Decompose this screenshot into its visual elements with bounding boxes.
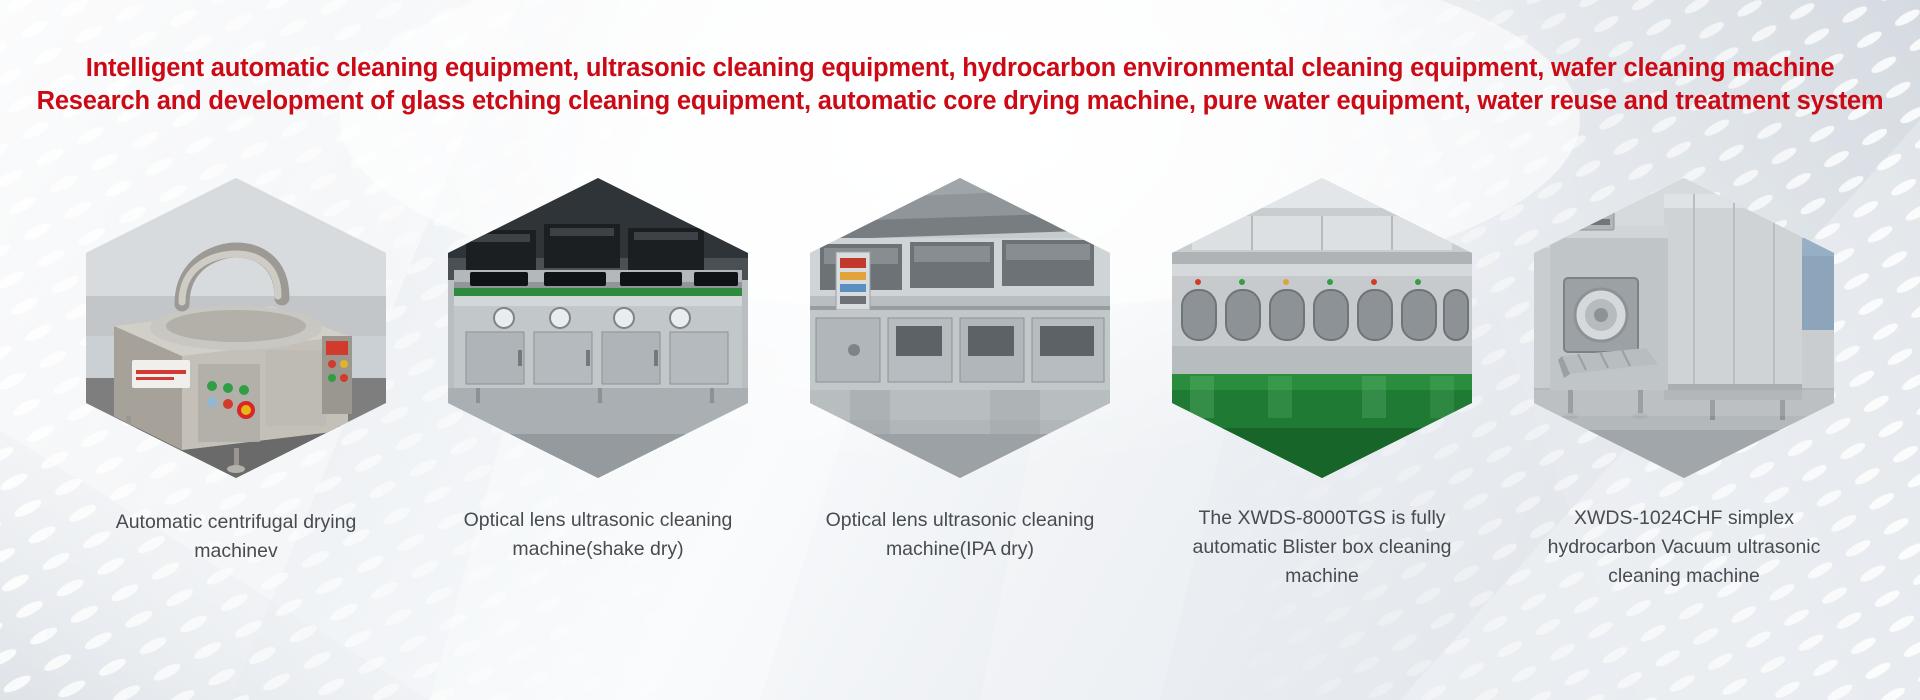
hex-frame-4	[1534, 178, 1834, 478]
product-card-0[interactable]: Automatic centrifugal drying machinev	[55, 178, 417, 566]
headline-line-1: Intelligent automatic cleaning equipment…	[0, 52, 1920, 85]
optical-lens-shake-dry-illustration	[448, 178, 748, 478]
product-image-1[interactable]	[448, 178, 748, 478]
banner-root: Intelligent automatic cleaning equipment…	[0, 0, 1920, 700]
headline-line-2: Research and development of glass etchin…	[0, 85, 1920, 118]
xwds-8000tgs-illustration	[1172, 178, 1472, 478]
product-image-4[interactable]	[1534, 178, 1834, 478]
product-caption-2: Optical lens ultrasonic cleaning machine…	[810, 506, 1110, 564]
product-card-1[interactable]: Optical lens ultrasonic cleaning machine…	[417, 178, 779, 564]
product-card-row: Automatic centrifugal drying machinev	[0, 178, 1920, 658]
xwds-1024chf-illustration	[1534, 178, 1834, 478]
optical-lens-ipa-dry-illustration	[810, 178, 1110, 478]
product-card-2[interactable]: Optical lens ultrasonic cleaning machine…	[779, 178, 1141, 564]
product-caption-1: Optical lens ultrasonic cleaning machine…	[448, 506, 748, 564]
product-caption-3: The XWDS-8000TGS is fully automatic Blis…	[1172, 504, 1472, 591]
hex-frame-2	[810, 178, 1110, 478]
centrifugal-dryer-illustration	[86, 178, 386, 478]
hex-frame-3	[1172, 178, 1472, 478]
hex-frame-1	[448, 178, 748, 478]
product-caption-4: XWDS-1024CHF simplex hydrocarbon Vacuum …	[1534, 504, 1834, 591]
product-card-3[interactable]: The XWDS-8000TGS is fully automatic Blis…	[1141, 178, 1503, 591]
headline: Intelligent automatic cleaning equipment…	[0, 52, 1920, 118]
product-card-4[interactable]: XWDS-1024CHF simplex hydrocarbon Vacuum …	[1503, 178, 1865, 591]
hex-frame-0	[86, 178, 386, 478]
product-image-2[interactable]	[810, 178, 1110, 478]
product-image-0[interactable]	[86, 178, 386, 478]
product-caption-0: Automatic centrifugal drying machinev	[86, 508, 386, 566]
product-image-3[interactable]	[1172, 178, 1472, 478]
